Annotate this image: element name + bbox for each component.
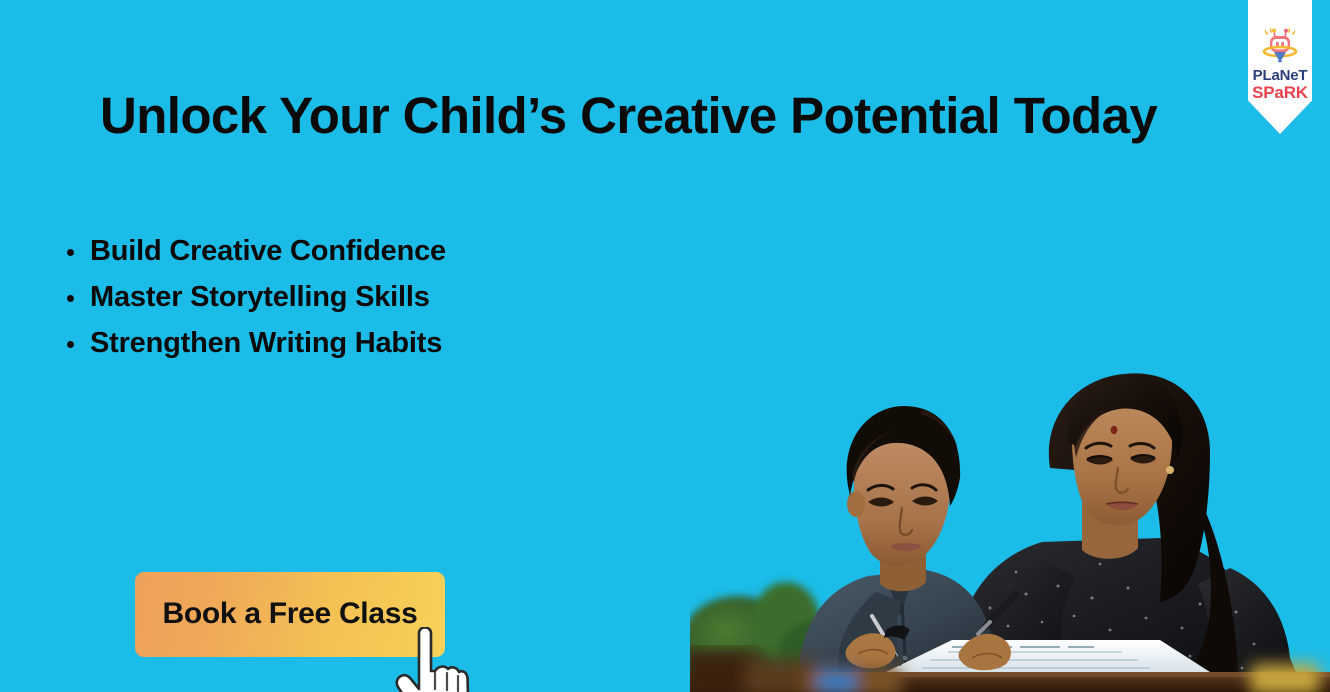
list-item: Strengthen Writing Habits [62,324,446,370]
planetspark-logo-ribbon: PLaNeT SPaRK [1248,0,1312,134]
benefit-label: Master Storytelling Skills [90,281,430,313]
planetspark-wordmark: PLaNeT SPaRK [1248,68,1312,101]
planetspark-robot-icon [1260,26,1300,64]
page-title: Unlock Your Child’s Creative Potential T… [100,88,1220,143]
list-item: Master Storytelling Skills [62,278,446,324]
list-item: Build Creative Confidence [62,232,446,278]
wordmark-line-1: PLaNeT [1248,68,1312,83]
cta-container: Book a Free Class [135,572,445,657]
tutor-and-student-photo [690,372,1330,692]
promo-banner: Unlock Your Child’s Creative Potential T… [0,0,1330,692]
benefits-list: Build Creative Confidence Master Storyte… [62,232,446,370]
benefit-label: Strengthen Writing Habits [90,327,442,359]
wordmark-line-2: SPaRK [1248,84,1312,101]
benefit-label: Build Creative Confidence [90,235,446,267]
book-a-free-class-button[interactable]: Book a Free Class [135,572,445,657]
